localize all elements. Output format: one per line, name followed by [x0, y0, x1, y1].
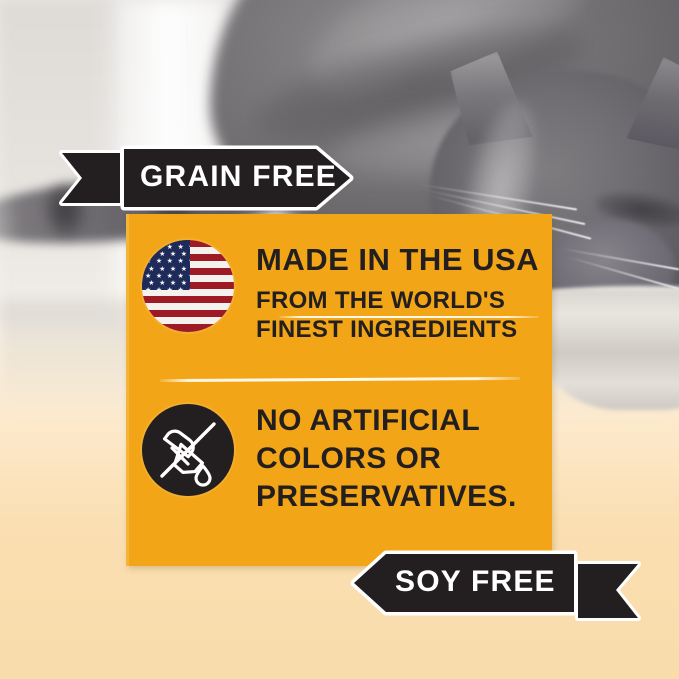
- soy-free-label: SOY FREE: [395, 565, 556, 599]
- grain-free-label: GRAIN FREE: [140, 160, 337, 194]
- usa-flag-circle-icon: ★ ★ ★ ★ ★ ★ ★ ★ ★ ★ ★ ★ ★ ★ ★ ★ ★ ★ ★ ★ …: [142, 240, 234, 332]
- no-artificial-icon: [142, 404, 234, 496]
- soy-free-ribbon: SOY FREE: [348, 548, 648, 626]
- grain-free-ribbon: GRAIN FREE: [58, 143, 358, 213]
- no-dropper-circle-icon: [142, 404, 234, 496]
- usa-flag-stars: ★ ★ ★ ★ ★ ★ ★ ★ ★ ★ ★ ★ ★ ★ ★ ★ ★ ★ ★ ★ …: [142, 240, 190, 290]
- no-artificial-line-2: COLORS OR: [256, 444, 517, 474]
- no-artificial-line-1: NO ARTIFICIAL: [256, 406, 517, 436]
- usa-flag: ★ ★ ★ ★ ★ ★ ★ ★ ★ ★ ★ ★ ★ ★ ★ ★ ★ ★ ★ ★ …: [142, 240, 234, 332]
- panel-section-divider: [160, 377, 520, 382]
- made-in-usa-subline-1: FROM THE WORLD'S: [256, 288, 539, 315]
- product-feature-graphic: GRAIN FREE ★ ★ ★ ★ ★ ★ ★ ★ ★ ★ ★ ★ ★ ★ ★…: [0, 0, 679, 679]
- made-in-usa-subline-2: FINEST INGREDIENTS: [256, 317, 539, 344]
- no-artificial-line-3: PRESERVATIVES.: [256, 482, 517, 512]
- panel-left-edge: [126, 214, 129, 566]
- made-in-usa-text-block: MADE IN THE USA FROM THE WORLD'S FINEST …: [256, 240, 539, 344]
- feature-made-in-usa: ★ ★ ★ ★ ★ ★ ★ ★ ★ ★ ★ ★ ★ ★ ★ ★ ★ ★ ★ ★ …: [142, 240, 539, 344]
- made-in-usa-headline: MADE IN THE USA: [256, 244, 539, 275]
- usa-flag-canton: ★ ★ ★ ★ ★ ★ ★ ★ ★ ★ ★ ★ ★ ★ ★ ★ ★ ★ ★ ★ …: [142, 240, 190, 290]
- usa-divider: [279, 316, 539, 318]
- feature-panel: ★ ★ ★ ★ ★ ★ ★ ★ ★ ★ ★ ★ ★ ★ ★ ★ ★ ★ ★ ★ …: [126, 214, 552, 566]
- feature-no-artificial: NO ARTIFICIAL COLORS OR PRESERVATIVES.: [142, 404, 517, 512]
- no-artificial-text-block: NO ARTIFICIAL COLORS OR PRESERVATIVES.: [256, 404, 517, 512]
